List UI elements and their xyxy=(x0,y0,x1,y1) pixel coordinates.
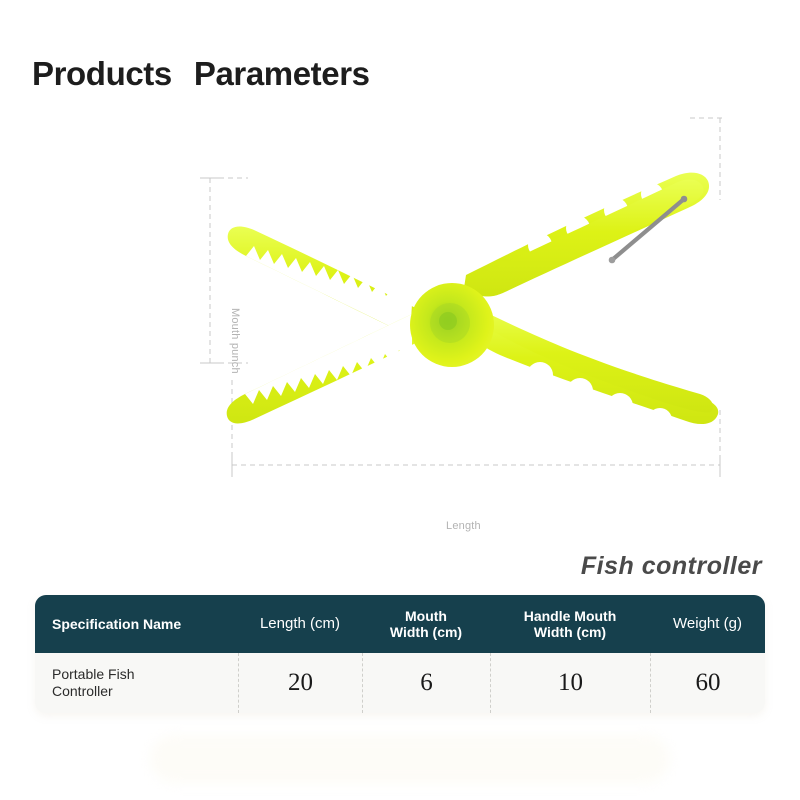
table-header-weight-label: Weight (g) xyxy=(673,616,742,632)
table-header-mouth-width-line2: Width (cm) xyxy=(390,624,462,640)
table-header-handle-mouth-width-line2: Width (cm) xyxy=(534,624,606,640)
table-header-specification-name: Specification Name xyxy=(35,595,238,653)
table-header-length: Length (cm) xyxy=(238,595,362,653)
fish-gripper-illustration xyxy=(0,80,800,510)
table-cell-weight-value: 60 xyxy=(696,670,721,696)
table-cell-weight: 60 xyxy=(650,653,765,713)
table-header-row: Specification Name Length (cm) Mouth Wid… xyxy=(35,595,765,653)
mouth-punch-dimension-label: Mouth punch xyxy=(228,308,241,374)
table-header-specification-name-label: Specification Name xyxy=(52,616,181,632)
brand-caption: Fish controller xyxy=(581,552,762,581)
table-header-length-label: Length (cm) xyxy=(260,616,340,632)
table-cell-specification-name-line2: Controller xyxy=(52,683,113,699)
table-header-mouth-width-line1: Mouth xyxy=(405,608,447,624)
table-header-handle-mouth-width: Handle Mouth Width (cm) xyxy=(490,595,650,653)
pivot-hub-core xyxy=(439,312,457,330)
table-backdrop-glow xyxy=(150,735,670,783)
table-header-handle-mouth-width-line1: Handle Mouth xyxy=(524,608,617,624)
product-illustration: Mouth punch Length xyxy=(0,80,800,510)
length-dimension-label: Length xyxy=(446,520,481,532)
jaw-upper-left-teeth xyxy=(246,246,412,336)
table-cell-handle-mouth-width: 10 xyxy=(490,653,650,713)
table-cell-handle-mouth-width-value: 10 xyxy=(558,670,583,696)
table-cell-length-value: 20 xyxy=(288,670,313,696)
table-cell-specification-name-line1: Portable Fish xyxy=(52,666,134,682)
jaw-lower-left-teeth xyxy=(245,314,412,404)
table-cell-mouth-width: 6 xyxy=(362,653,490,713)
product-parameters-page: Products Parameters xyxy=(0,0,800,800)
gripper-body xyxy=(227,173,719,432)
table-cell-mouth-width-value: 6 xyxy=(420,670,433,696)
table-cell-specification-name: Portable Fish Controller xyxy=(35,653,238,713)
table-header-mouth-width: Mouth Width (cm) xyxy=(362,595,490,653)
table-cell-length: 20 xyxy=(238,653,362,713)
table-header-weight: Weight (g) xyxy=(650,595,765,653)
specification-table: Specification Name Length (cm) Mouth Wid… xyxy=(35,595,765,713)
table-row: Portable Fish Controller 20 6 10 60 xyxy=(35,653,765,713)
